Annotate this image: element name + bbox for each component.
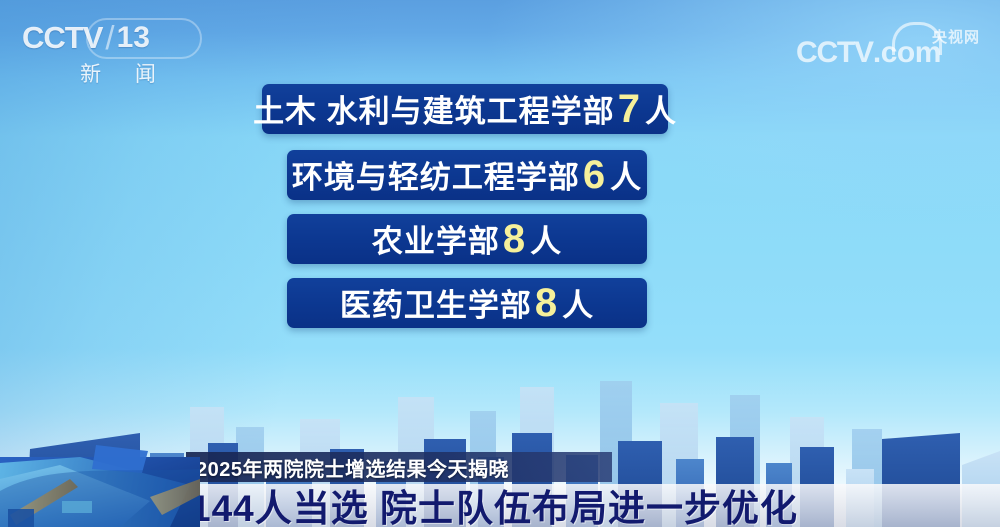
- stat-unit: 人: [610, 162, 642, 193]
- corner-decoration-graphic: [0, 445, 200, 527]
- stat-text: 农业学部 8 人: [372, 219, 562, 259]
- broadcast-screen: CCTV / 13 新 闻 CCTV.com 央视网 土木 水利与建筑工程学部 …: [0, 0, 1000, 527]
- stat-text: 医药卫生学部 8 人: [340, 283, 594, 323]
- stat-unit: 人: [562, 290, 594, 321]
- stat-number: 6: [583, 155, 606, 195]
- stat-label: 土木 水利与建筑工程学部: [253, 96, 615, 127]
- stat-unit: 人: [645, 96, 677, 127]
- channel-ring-shape: [86, 18, 202, 59]
- stat-number: 7: [618, 89, 641, 129]
- stat-label: 医药卫生学部: [340, 290, 532, 321]
- stat-text: 土木 水利与建筑工程学部 7 人: [253, 89, 677, 129]
- headline-text: 144人当选 院士队伍布局进一步优化: [190, 478, 798, 527]
- channel-logo: CCTV / 13 新 闻: [22, 20, 202, 82]
- stat-text: 环境与轻纺工程学部 6 人: [292, 155, 642, 195]
- channel-subtitle: 新 闻: [22, 58, 202, 88]
- cctv-com-watermark: CCTV.com 央视网: [796, 22, 982, 72]
- stat-box: 农业学部 8 人: [287, 214, 647, 264]
- stat-label: 环境与轻纺工程学部: [292, 162, 580, 193]
- stat-label: 农业学部: [372, 226, 500, 257]
- stat-number: 8: [535, 283, 558, 323]
- stat-box: 医药卫生学部 8 人: [287, 278, 647, 328]
- watermark-brand: CCTV: [796, 36, 873, 69]
- stat-box: 土木 水利与建筑工程学部 7 人: [262, 84, 668, 134]
- stat-number: 8: [503, 219, 526, 259]
- headline: 144人当选 院士队伍布局进一步优化: [190, 483, 798, 527]
- stat-unit: 人: [530, 226, 562, 257]
- watermark-chinese: 央视网: [932, 26, 980, 47]
- stat-box: 环境与轻纺工程学部 6 人: [287, 150, 647, 200]
